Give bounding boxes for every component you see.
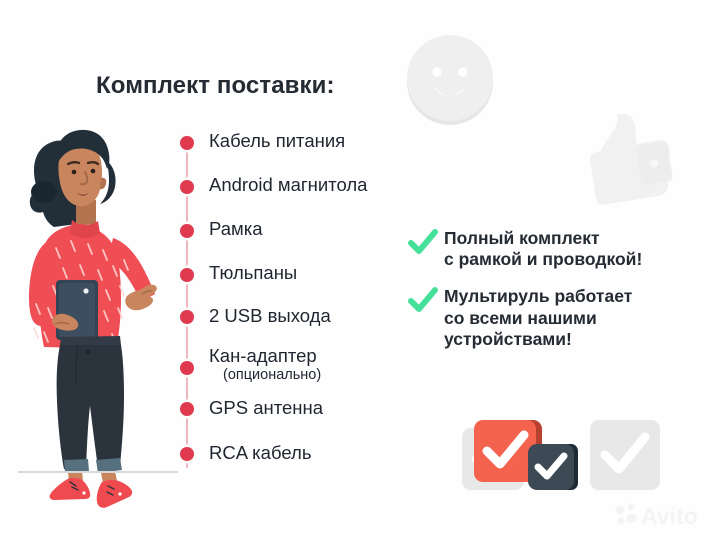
eye-left bbox=[72, 170, 77, 175]
list-item-label: Android магнитола bbox=[209, 174, 367, 195]
bullet-dot-icon bbox=[180, 224, 194, 238]
bullet-dot-icon bbox=[180, 310, 194, 324]
trousers bbox=[57, 345, 124, 469]
package-contents-list: Кабель питания Android магнитола Рамка Т… bbox=[178, 130, 438, 482]
list-item-label: Кабель питания bbox=[209, 130, 345, 151]
highlight-line-1: Полный комплект bbox=[444, 228, 600, 248]
highlights-section: Полный комплект с рамкой и проводкой! Му… bbox=[408, 228, 708, 366]
list-item-label: Тюльпаны bbox=[209, 262, 297, 283]
hair-bun bbox=[31, 181, 57, 203]
highlight-line-2: с рамкой и проводкой! bbox=[444, 249, 642, 269]
highlight-text: Полный комплект с рамкой и проводкой! bbox=[444, 228, 642, 270]
highlight-item: Мультируль работает со всеми нашими устр… bbox=[408, 286, 708, 350]
bullet-dot-icon bbox=[180, 268, 194, 282]
avito-watermark: Avito bbox=[612, 500, 712, 530]
bullet-dot-icon bbox=[180, 136, 194, 150]
green-check-icon bbox=[408, 287, 438, 315]
list-item: Кан-адаптер(опционально) bbox=[178, 345, 438, 397]
list-item: Рамка bbox=[178, 218, 438, 262]
highlight-text: Мультируль работает со всеми нашими устр… bbox=[444, 286, 632, 350]
ground-line bbox=[18, 471, 178, 473]
shoe-dot-left bbox=[82, 491, 85, 494]
shoe-dot-right bbox=[118, 492, 121, 495]
ear bbox=[100, 178, 106, 189]
page-title: Комплект поставки: bbox=[96, 72, 335, 100]
trouser-button bbox=[85, 349, 91, 355]
bullet-dot-icon bbox=[180, 180, 194, 194]
list-item-label: RCA кабель bbox=[209, 442, 311, 463]
bullet-dot-icon bbox=[180, 361, 194, 375]
checkbox-cards-decoration bbox=[462, 418, 662, 498]
list-item: Android магнитола bbox=[178, 174, 438, 218]
tablet-camera bbox=[83, 288, 88, 293]
list-item-label: Кан-адаптер(опционально) bbox=[209, 345, 321, 384]
highlight-line-2: со всеми нашими bbox=[444, 308, 597, 328]
list-item-sublabel: (опционально) bbox=[223, 367, 321, 384]
list-item-label: 2 USB выхода bbox=[209, 305, 331, 326]
list-item-label: Рамка bbox=[209, 218, 263, 239]
list-item: 2 USB выхода bbox=[178, 305, 438, 345]
dark-card bbox=[528, 444, 574, 490]
svg-text:Avito: Avito bbox=[641, 503, 698, 529]
list-item: Тюльпаны bbox=[178, 262, 438, 305]
green-check-icon bbox=[408, 229, 438, 257]
shoe-right bbox=[97, 480, 132, 508]
smiley-face-icon bbox=[403, 32, 498, 127]
highlight-line-3: устройствами! bbox=[444, 329, 572, 349]
thumbs-up-icon bbox=[575, 105, 685, 210]
list-item: RCA кабель bbox=[178, 442, 438, 482]
list-item-label: GPS антенна bbox=[209, 397, 323, 418]
list-item: Кабель питания bbox=[178, 130, 438, 174]
highlight-line-1: Мультируль работает bbox=[444, 286, 632, 306]
shoe-left bbox=[50, 478, 91, 500]
highlight-item: Полный комплект с рамкой и проводкой! bbox=[408, 228, 708, 270]
illustration-woman-pointing bbox=[8, 108, 178, 508]
bullet-dot-icon bbox=[180, 447, 194, 461]
grey-card-right bbox=[590, 420, 660, 490]
bullet-dot-icon bbox=[180, 402, 194, 416]
waistband bbox=[60, 336, 121, 345]
red-card bbox=[474, 420, 536, 482]
list-item: GPS антенна bbox=[178, 397, 438, 442]
promo-image-canvas: Комплект поставки: Кабель питания Androi… bbox=[0, 0, 720, 540]
eye-right bbox=[91, 169, 96, 174]
